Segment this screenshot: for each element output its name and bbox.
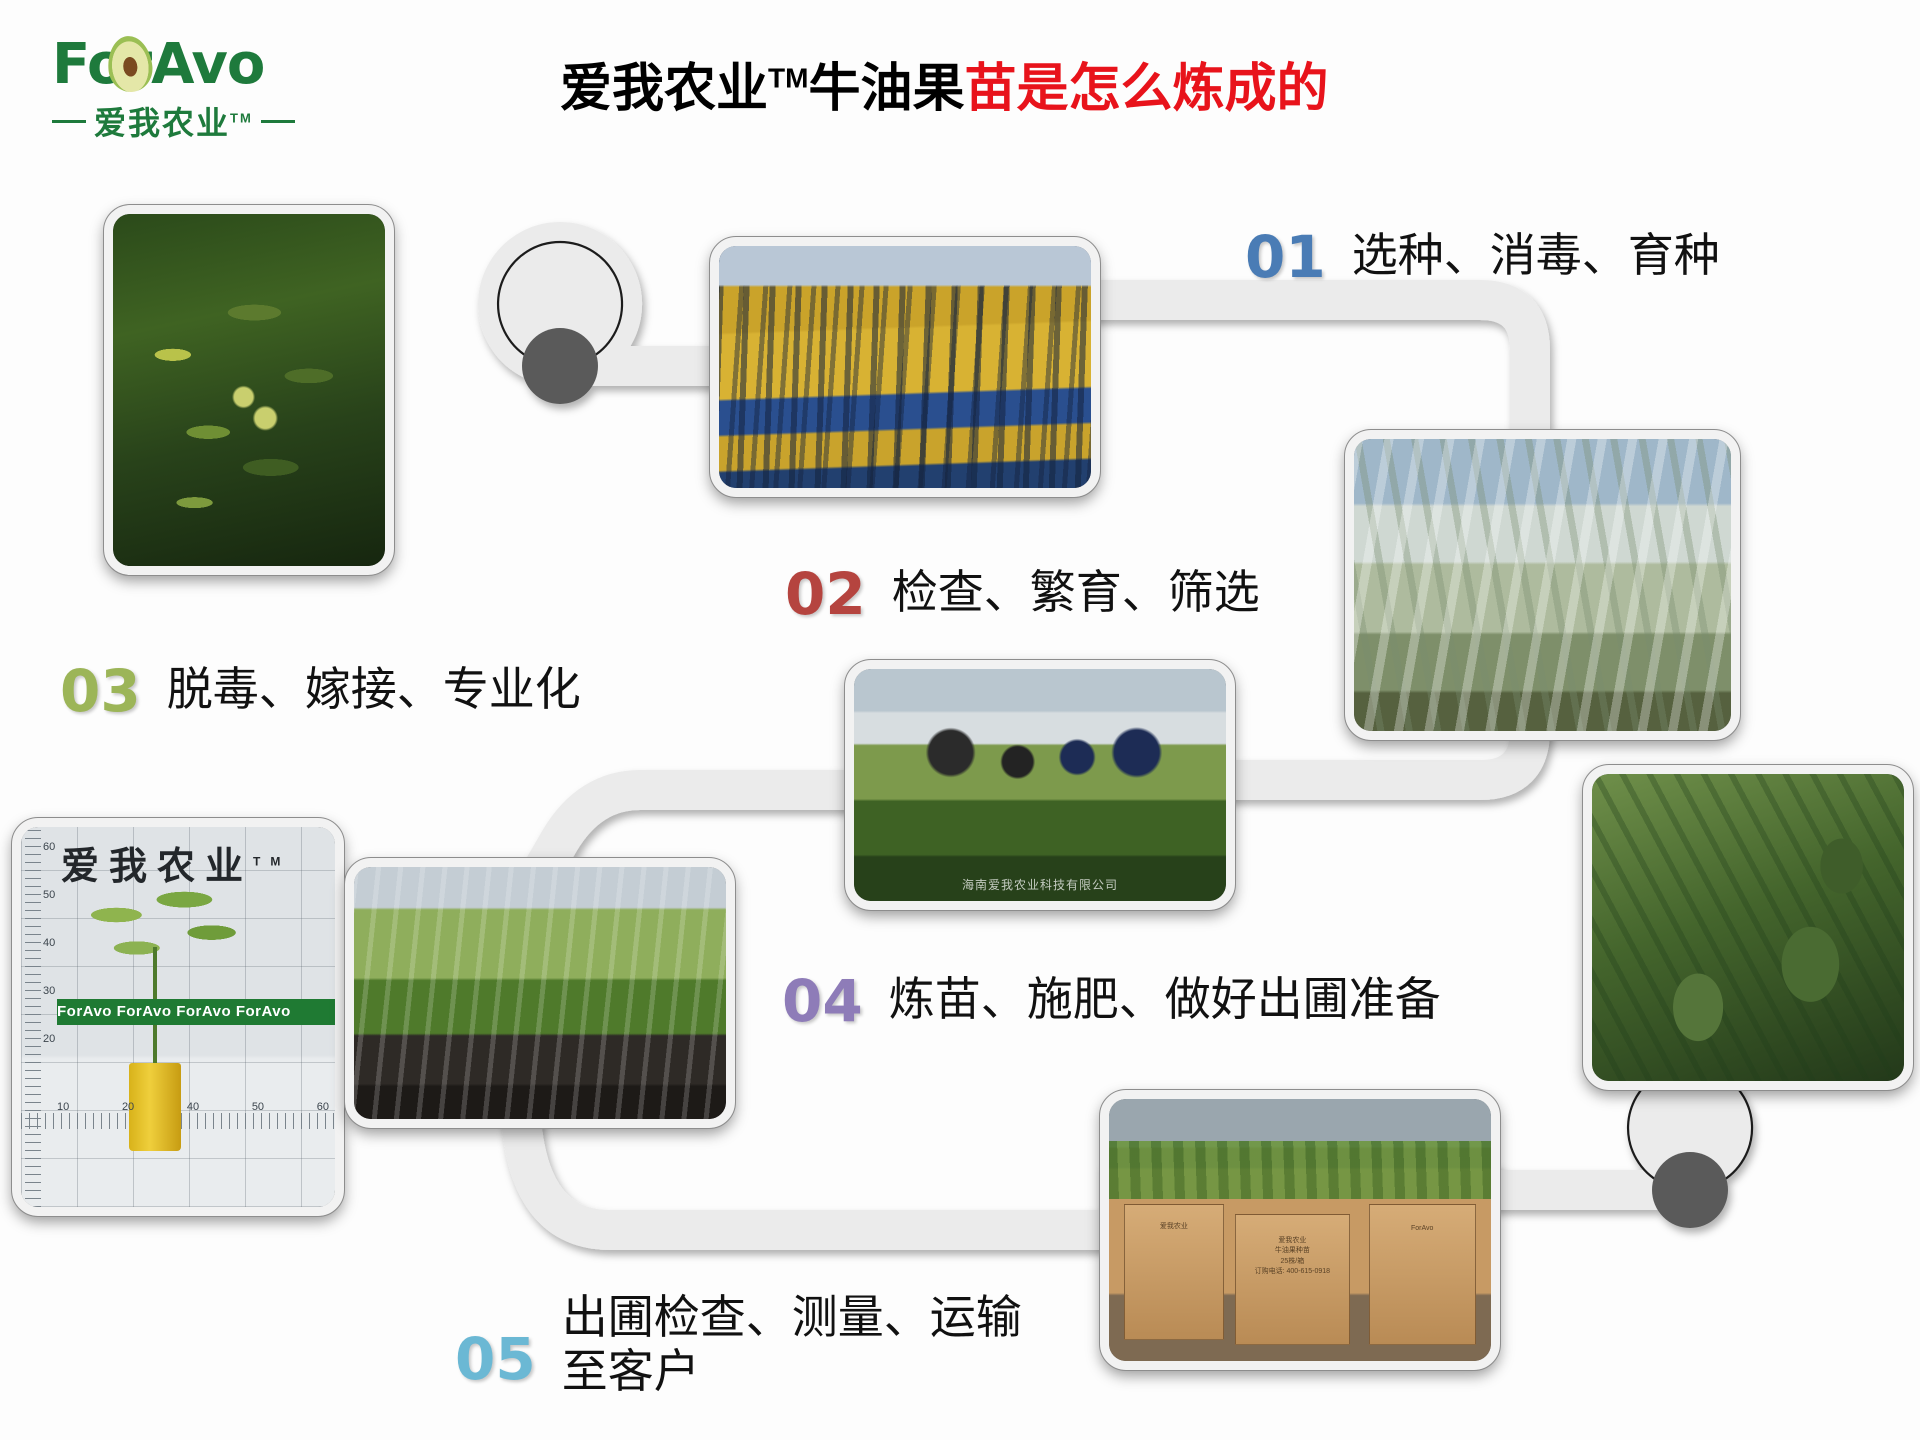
potted-seedling-rows-image [354, 867, 726, 1119]
step-05: 05 出圃检查、测量、运输 至客户 [455, 1290, 1022, 1399]
ruler-hnum: 20 [122, 1101, 134, 1113]
ribbon-end-dot [1652, 1152, 1728, 1228]
carton-box: 爱我农业 牛油果种苗 25株/箱 订购电话: 400-615-0918 [1235, 1214, 1350, 1345]
carton-label: 爱我农业 [1125, 1222, 1222, 1233]
carton-label: 爱我农业 牛油果种苗 25株/箱 订购电话: 400-615-0918 [1236, 1236, 1349, 1278]
photo-seed-trays [710, 237, 1100, 497]
ruler-vertical-numbers: 60 50 40 30 20 [43, 841, 77, 1081]
ruler-hnum: 60 [317, 1101, 329, 1113]
carton-box: ForAvo [1369, 1204, 1476, 1345]
photo-staff-inspect: 海南爱我农业科技有限公司 [845, 660, 1235, 910]
logo-chinese-name: 爱我农业TM [94, 98, 253, 144]
ruler-vnum: 40 [43, 937, 77, 985]
ruler-hnum: 40 [187, 1101, 199, 1113]
step-05-label-line1: 出圃检查、测量、运输 [562, 1291, 1022, 1343]
title-part-black-2: 牛油果 [808, 60, 964, 118]
step-03: 03 脱毒、嫁接、专业化 [60, 662, 581, 720]
ribbon-start-dot [522, 328, 598, 404]
photo-watermark: 海南爱我农业科技有限公司 [854, 876, 1226, 893]
step-01-label: 选种、消毒、育种 [1352, 228, 1720, 282]
step-04: 04 炼苗、施肥、做好出圃准备 [782, 972, 1441, 1030]
infographic-canvas: ForAvo 爱我农业TM 爱我农业TM牛油果苗是怎么炼成的 [0, 0, 1920, 1440]
photo-ruler-seedling: 爱我农业TM 60 50 40 30 20 ForAvo ForAvo ForA… [12, 818, 344, 1216]
step-02-label: 检查、繁育、筛选 [892, 565, 1260, 619]
ruler-horizontal-numbers: 10 20 40 50 60 [57, 1101, 329, 1113]
photo-potted-rows [345, 858, 735, 1128]
carton-box: 爱我农业 [1124, 1204, 1223, 1340]
page-title: 爱我农业TM牛油果苗是怎么炼成的 [560, 46, 1560, 121]
box-plants-row [1109, 1141, 1491, 1199]
measured-seedling-image: 爱我农业TM 60 50 40 30 20 ForAvo ForAvo ForA… [21, 827, 335, 1207]
brand-logo: ForAvo 爱我农业TM [52, 34, 342, 144]
ruler-vnum: 50 [43, 889, 77, 937]
step-05-label-line2: 至客户 [562, 1345, 700, 1397]
ruler-vnum: 60 [43, 841, 77, 889]
step-02: 02 检查、繁育、筛选 [785, 565, 1260, 623]
step-04-label: 炼苗、施肥、做好出圃准备 [889, 972, 1441, 1026]
photo-fruit-tree [1583, 765, 1913, 1090]
step-05-label: 出圃检查、测量、运输 至客户 [562, 1290, 1022, 1399]
logo-wordmark-text: ForAvo [52, 32, 264, 97]
step-03-number: 03 [60, 662, 141, 720]
step-03-label: 脱毒、嫁接、专业化 [167, 662, 581, 716]
seedling-leaves [79, 871, 249, 981]
title-tm-mark: TM [768, 63, 808, 94]
title-part-red: 苗是怎么炼成的 [964, 60, 1328, 118]
logo-tm-mark: TM [230, 110, 253, 125]
ruler-watermark-tm: TM [253, 854, 290, 868]
foravo-watermark-band: ForAvo ForAvo ForAvo ForAvo [57, 999, 335, 1025]
grafting-bags-greenhouse-image [1354, 439, 1731, 731]
avocado-fruit-on-tree-image [1592, 774, 1904, 1081]
step-01-number: 01 [1245, 228, 1326, 286]
logo-rule-right [261, 120, 295, 123]
flowering-branch-image [113, 214, 385, 566]
photo-seedling-flower [104, 205, 394, 575]
ruler-hnum: 10 [57, 1101, 69, 1113]
photo-packing-boxes: 爱我农业 爱我农业 牛油果种苗 25株/箱 订购电话: 400-615-0918… [1100, 1090, 1500, 1370]
photo-graft-bags [1345, 430, 1740, 740]
packing-boxes-image: 爱我农业 爱我农业 牛油果种苗 25株/箱 订购电话: 400-615-0918… [1109, 1099, 1491, 1361]
logo-rule-left [52, 120, 86, 123]
step-05-number: 05 [455, 1330, 536, 1388]
step-01: 01 选种、消毒、育种 [1245, 228, 1720, 286]
logo-wordmark: ForAvo [52, 34, 342, 96]
ruler-hnum: 50 [252, 1101, 264, 1113]
title-part-black: 爱我农业 [560, 60, 768, 118]
ruler-vnum: 20 [43, 1033, 77, 1081]
staff-inspection-image: 海南爱我农业科技有限公司 [854, 669, 1226, 901]
logo-subline: 爱我农业TM [52, 98, 342, 144]
carton-side-label: ForAvo [1370, 1224, 1475, 1235]
seed-tray-rows-image [719, 246, 1091, 488]
ruler-vertical-ticks [25, 827, 41, 1207]
step-02-number: 02 [785, 565, 866, 623]
step-04-number: 04 [782, 972, 863, 1030]
ribbon-start-knob [498, 242, 622, 366]
